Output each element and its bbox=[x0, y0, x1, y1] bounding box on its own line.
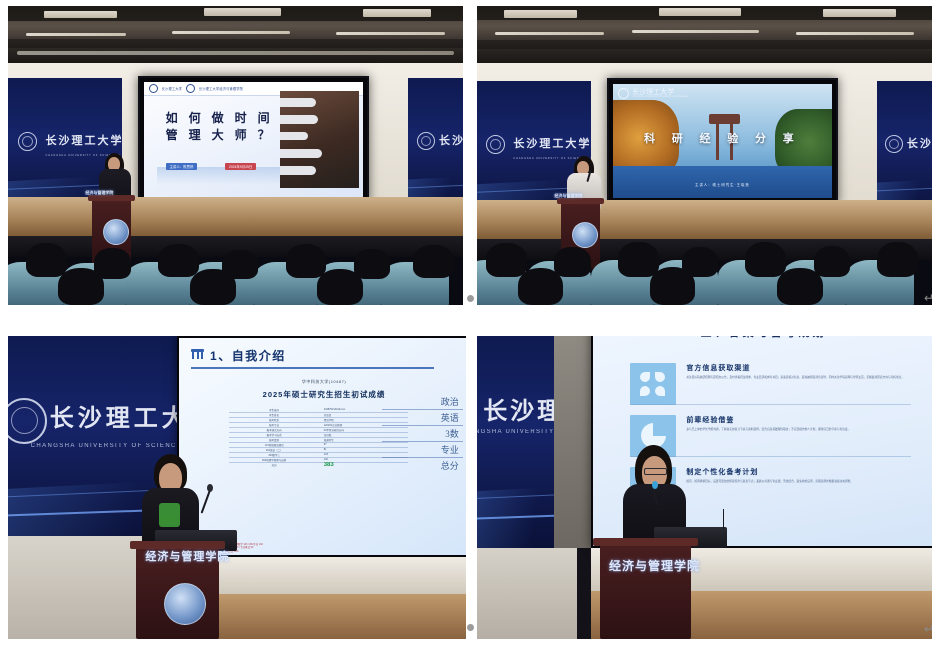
slide-divider bbox=[191, 367, 434, 368]
stage-floor bbox=[477, 200, 932, 239]
plan-item-1: 官方信息获取渠道 关注目标院校研招网与研招办公告，及时查看招生简章、专业目录和参… bbox=[630, 363, 910, 405]
audience-seating bbox=[8, 239, 463, 305]
university-name-cn-partial: 长沙理工大学 bbox=[907, 135, 932, 151]
slide-title-text: 科 研 经 验 分 享 bbox=[613, 130, 833, 146]
table-cell-key: 考生编号 bbox=[229, 408, 320, 412]
university-name-en: CHANGSHA UNIVERSITY OF SCIENCE & TECHNOL… bbox=[477, 429, 554, 435]
slide-header-logo-1: 长沙理工大学 bbox=[162, 86, 182, 91]
left-banner: 长沙理工大学 CHANGSHA UNIVERSITY OF SCIENCE & … bbox=[477, 336, 554, 548]
plan-item-heading: 制定个性化备考计划 bbox=[686, 467, 910, 477]
table-cell-key: 204英语（二） bbox=[229, 448, 320, 452]
grid-icon bbox=[630, 363, 676, 405]
auditorium-scene-1: 长沙理工大学 CHANGSHA UNIVERSITY OF SCIENCE & … bbox=[8, 6, 463, 305]
slide-side-photo bbox=[280, 91, 359, 187]
university-seal-icon bbox=[486, 135, 505, 154]
university-seal-icon bbox=[885, 135, 903, 153]
projection-screen-2: 长沙理工大学 CHANGSHA UNIVERSITY OF SCIENCE & … bbox=[607, 78, 839, 205]
plan-item-body: 多与已上岸的学长学姐沟通，了解真实的复习节奏与资料选择，结合自身基础理性取舍；不… bbox=[686, 428, 910, 432]
university-seal-icon bbox=[8, 398, 47, 444]
school-logo-icon bbox=[618, 88, 629, 99]
slide-title: 长沙理工大学 长沙理工大学经济与管理学院 bbox=[144, 82, 364, 197]
event-photo-top-left: 长沙理工大学 CHANGSHA UNIVERSITY OF SCIENCE & … bbox=[8, 6, 463, 305]
table-caption-small: 华中科技大学(10487) bbox=[179, 379, 466, 385]
university-name-cn: 长沙理工大学 bbox=[50, 398, 182, 433]
slide-title-text: 如 何 做 时 间 管 理 大 师 ？ bbox=[166, 110, 274, 145]
slide-campus: 长沙理工大学 CHANGSHA UNIVERSITY OF SCIENCE & … bbox=[613, 84, 833, 199]
podium-label: 经济与管理学院 bbox=[609, 557, 700, 574]
document-page: 长沙理工大学 CHANGSHA UNIVERSITY OF SCIENCE & … bbox=[0, 0, 938, 645]
slide-header-logo-2: 长沙理工大学经济与管理学院 bbox=[199, 86, 243, 91]
slide-header: 长沙理工大学 CHANGSHA UNIVERSITY OF SCIENCE & … bbox=[618, 88, 688, 99]
stage-floor bbox=[177, 594, 466, 639]
slide-header-en: CHANGSHA UNIVERSITY OF SCIENCE & TECHNOL… bbox=[632, 96, 688, 98]
table-cell-key: 101思想政治理论 bbox=[229, 443, 320, 447]
eyeglasses bbox=[644, 468, 668, 475]
stage-floor bbox=[8, 197, 463, 236]
table-cell-key: 考生姓名 bbox=[229, 413, 320, 417]
event-photo-bottom-left: 长沙理工大学 CHANGSHA UNIVERSITY OF SCIENCE & … bbox=[8, 336, 466, 639]
ceiling bbox=[8, 6, 463, 63]
slide-date-tag: 2024年9月25日 bbox=[225, 163, 256, 170]
university-name-cn: 长沙理工大学 bbox=[513, 135, 590, 151]
university-seal-icon bbox=[18, 132, 37, 151]
podium-label: 经济与管理学院 bbox=[554, 193, 582, 199]
slide-subtitle-text: 主讲人：硕士研究生·王晓慧 bbox=[613, 182, 833, 187]
slide-section-number: 1、 bbox=[210, 349, 232, 363]
university-name-cn-partial: 长沙理工大学 bbox=[439, 132, 463, 148]
projection-screen-3: 1、自我介绍 华中科技大学(10487) 2025年硕士研究生招生初试成绩 考生… bbox=[177, 336, 466, 557]
university-name-cn: 长沙理工大学 bbox=[46, 132, 122, 148]
plan-item-body: 按月、按周拆解目标，设置可量化的阶段任务与复盘节点；兼顾公共课与专业课，劳逸结合… bbox=[686, 480, 910, 484]
auditorium-scene-2: 长沙理工大学 CHANGSHA UNIVERSITY OF SCIENCE & … bbox=[477, 6, 932, 305]
t-shirt-graphic bbox=[159, 503, 180, 527]
ceiling bbox=[477, 6, 932, 63]
mic-boom bbox=[723, 509, 725, 529]
table-cell-key: 报考院系 bbox=[229, 418, 320, 422]
event-photo-bottom-right: 长沙理工大学 CHANGSHA UNIVERSITY OF SCIENCE & … bbox=[477, 336, 932, 639]
wall-base bbox=[477, 548, 577, 639]
university-name-en: CHANGSHA UNIVERSITY OF SCIENCE & TECHNOL… bbox=[31, 443, 182, 449]
overlay-score-lines: 政治 英语 3数 专业 总分 bbox=[382, 394, 463, 473]
wall-column bbox=[554, 336, 590, 548]
table-cell-key: 824管理学原理与运筹 bbox=[229, 458, 320, 462]
projection-screen-1: 长沙理工大学 长沙理工大学经济与管理学院 bbox=[138, 76, 370, 203]
auditorium-scene-4: 长沙理工大学 CHANGSHA UNIVERSITY OF SCIENCE & … bbox=[477, 336, 932, 639]
table-cell-key: 报考学习方式 bbox=[229, 433, 320, 437]
return-mark-1: ↵ bbox=[924, 291, 934, 305]
pillar-icon bbox=[191, 349, 204, 361]
table-cell-key: 报考研究方向 bbox=[229, 428, 320, 432]
paragraph-bullet-mark-2 bbox=[467, 624, 474, 631]
podium-label: 经济与管理学院 bbox=[85, 190, 113, 196]
slide-self-intro: 1、自我介绍 华中科技大学(10487) 2025年硕士研究生招生初试成绩 考生… bbox=[179, 338, 466, 555]
auditorium-scene-3: 长沙理工大学 CHANGSHA UNIVERSITY OF SCIENCE & … bbox=[8, 336, 466, 639]
audience-seating bbox=[477, 236, 932, 305]
plan-item-heading: 前辈经验借鉴 bbox=[686, 415, 910, 425]
table-cell-key: 报考专业 bbox=[229, 423, 320, 427]
slide-section-header: 1、自我介绍 bbox=[191, 347, 286, 364]
table-cell-key: 303数学三 bbox=[229, 453, 320, 457]
table-cell-key: 总分 bbox=[229, 463, 320, 467]
slide-speaker-tag: 主讲人：陈思婷 bbox=[166, 163, 198, 170]
podium-label: 经济与管理学院 bbox=[145, 548, 229, 564]
plan-item-body: 关注目标院校研招网与研招办公告，及时查看招生简章、专业目录和参考书目；多渠道核对… bbox=[686, 376, 910, 380]
table-cell-key: 报考类别 bbox=[229, 438, 320, 442]
slide-section-title: 自我介绍 bbox=[232, 349, 286, 363]
school-logo-icon bbox=[149, 84, 158, 93]
paragraph-bullet-mark-1 bbox=[467, 295, 474, 302]
return-mark-2: ↵ bbox=[924, 622, 934, 636]
university-seal-icon bbox=[417, 132, 435, 150]
slide-title-text: 三、答案与备考规划 bbox=[593, 336, 932, 340]
college-logo-icon bbox=[186, 84, 195, 93]
university-name-cn-partial: 长沙理工大学 bbox=[483, 391, 554, 426]
plan-item-heading: 官方信息获取渠道 bbox=[686, 363, 910, 373]
podium-emblem-icon bbox=[164, 583, 206, 625]
event-photo-top-right: 长沙理工大学 CHANGSHA UNIVERSITY OF SCIENCE & … bbox=[477, 6, 932, 305]
